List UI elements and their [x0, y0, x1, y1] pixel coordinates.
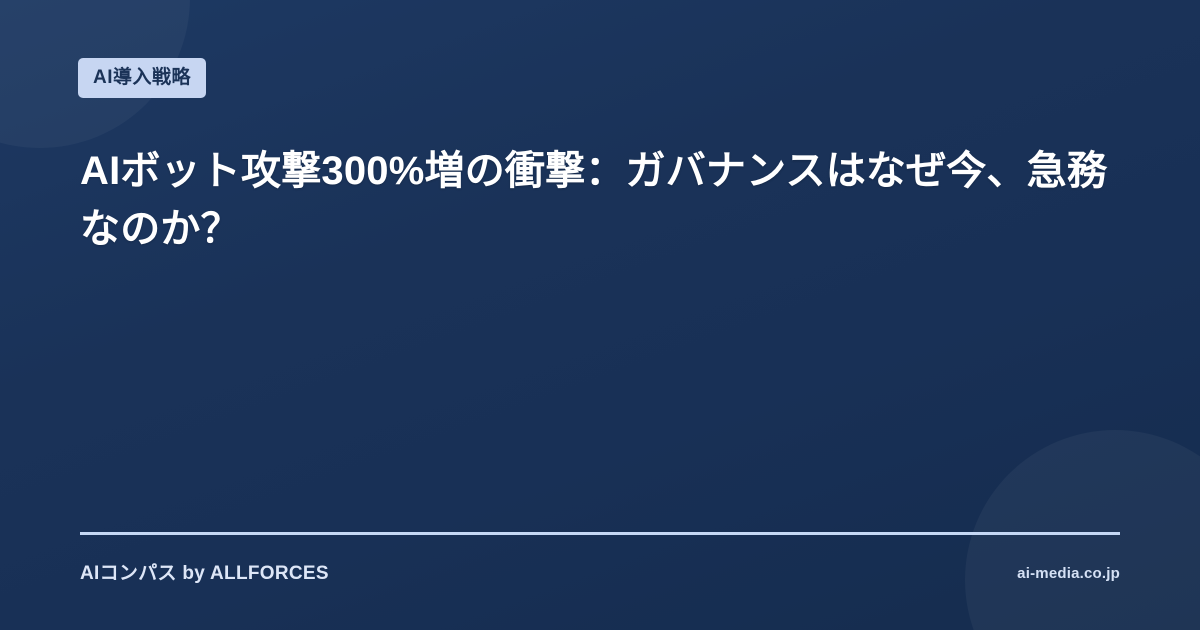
card-content: AI導入戦略 AIボット攻撃300%増の衝撃：ガバナンスはなぜ今、急務なのか？ … — [0, 0, 1200, 630]
footer-divider — [80, 532, 1120, 535]
page-title: AIボット攻撃300%増の衝撃：ガバナンスはなぜ今、急務なのか？ — [80, 142, 1120, 258]
brand-name: AIコンパス by ALLFORCES — [80, 564, 329, 583]
footer-row: AIコンパス by ALLFORCES ai-media.co.jp — [80, 556, 1120, 590]
site-url: ai-media.co.jp — [1017, 566, 1120, 581]
category-badge: AI導入戦略 — [78, 58, 206, 98]
og-card: AI導入戦略 AIボット攻撃300%増の衝撃：ガバナンスはなぜ今、急務なのか？ … — [0, 0, 1200, 630]
